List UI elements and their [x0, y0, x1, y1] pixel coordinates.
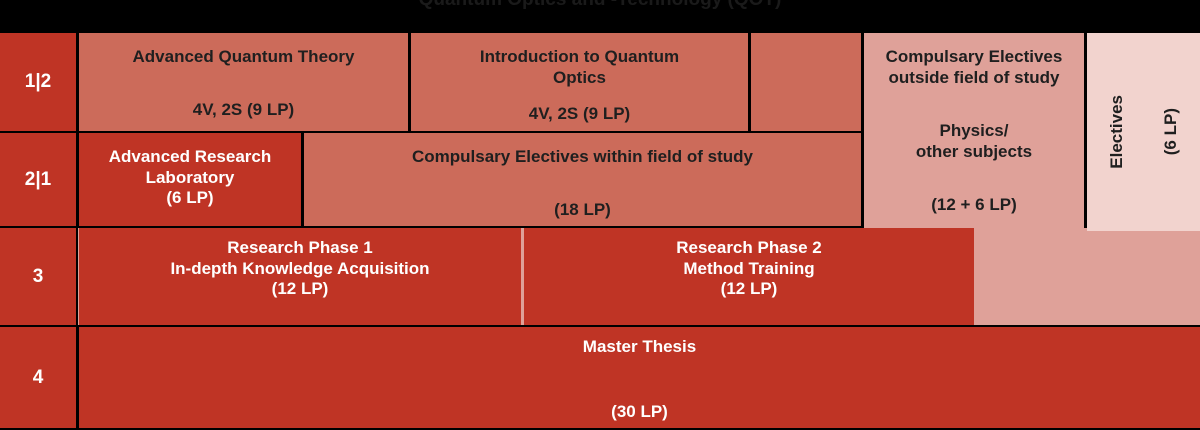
module-master-thesis[interactable]: Master Thesis (30 LP) [79, 327, 1200, 428]
page-title: Quantum Optics and -Technology (QOT) [0, 0, 1200, 11]
module-name-line1: Introduction to Quantum [480, 47, 679, 68]
module-name: Master Thesis [583, 337, 696, 358]
module-credits: (12 LP) [272, 279, 329, 300]
module-credits: 4V, 2S (9 LP) [529, 104, 630, 125]
module-credits: (12 + 6 LP) [931, 195, 1017, 216]
semester-cell-3: 3 [0, 228, 76, 325]
module-credits: (12 LP) [721, 279, 778, 300]
semester-cell-2: 2|1 [0, 133, 76, 226]
module-electives[interactable]: Electives (6 LP) [1087, 33, 1200, 231]
module-compulsary-electives-within[interactable]: Compulsary Electives within field of stu… [304, 133, 861, 226]
module-name-line2: Optics [553, 68, 606, 89]
curriculum-diagram: Quantum Optics and -Technology (QOT) 1|2… [0, 0, 1200, 430]
module-name-line1: Advanced Research [109, 147, 272, 168]
semester-label: 1|2 [25, 70, 51, 93]
module-name: Compulsary Electives within field of stu… [412, 147, 753, 168]
module-advanced-quantum-theory[interactable]: Advanced Quantum Theory 4V, 2S (9 LP) [79, 33, 408, 131]
module-credits: (6 LP) [166, 188, 213, 209]
module-name: Advanced Quantum Theory [133, 47, 355, 68]
module-name-line2: Laboratory [146, 168, 235, 189]
module-name-line1: Research Phase 1 [227, 238, 373, 259]
module-subject-line2: other subjects [916, 142, 1032, 163]
module-name-line2: Method Training [683, 259, 814, 280]
semester-label: 2|1 [25, 168, 51, 191]
module-research-phase-2[interactable]: Research Phase 2 Method Training (12 LP) [524, 228, 974, 325]
module-credits: (6 LP) [1161, 108, 1181, 155]
module-introduction-to-quantum-optics[interactable]: Introduction to Quantum Optics 4V, 2S (9… [411, 33, 748, 131]
module-advanced-research-laboratory[interactable]: Advanced Research Laboratory (6 LP) [79, 133, 301, 226]
semester-label: 3 [33, 265, 44, 288]
module-compulsary-electives-outside[interactable]: Compulsary Electives outside field of st… [864, 33, 1084, 231]
module-name-line2: In-depth Knowledge Acquisition [170, 259, 429, 280]
module-research-phase-1[interactable]: Research Phase 1 In-depth Knowledge Acqu… [79, 228, 521, 325]
module-credits: (30 LP) [611, 402, 668, 423]
module-name-line1: Compulsary Electives [886, 47, 1063, 68]
semester-cell-4: 4 [0, 327, 76, 428]
module-credits: (18 LP) [554, 200, 611, 221]
semester-label: 4 [33, 366, 44, 389]
module-subject-line1: Physics/ [940, 121, 1009, 142]
semester-cell-1: 1|2 [0, 33, 76, 131]
module-credits: 4V, 2S (9 LP) [193, 100, 294, 121]
module-name-line2: outside field of study [889, 68, 1060, 89]
module-name-line1: Research Phase 2 [676, 238, 822, 259]
row1-filler [751, 33, 861, 131]
module-name: Electives [1107, 95, 1127, 169]
